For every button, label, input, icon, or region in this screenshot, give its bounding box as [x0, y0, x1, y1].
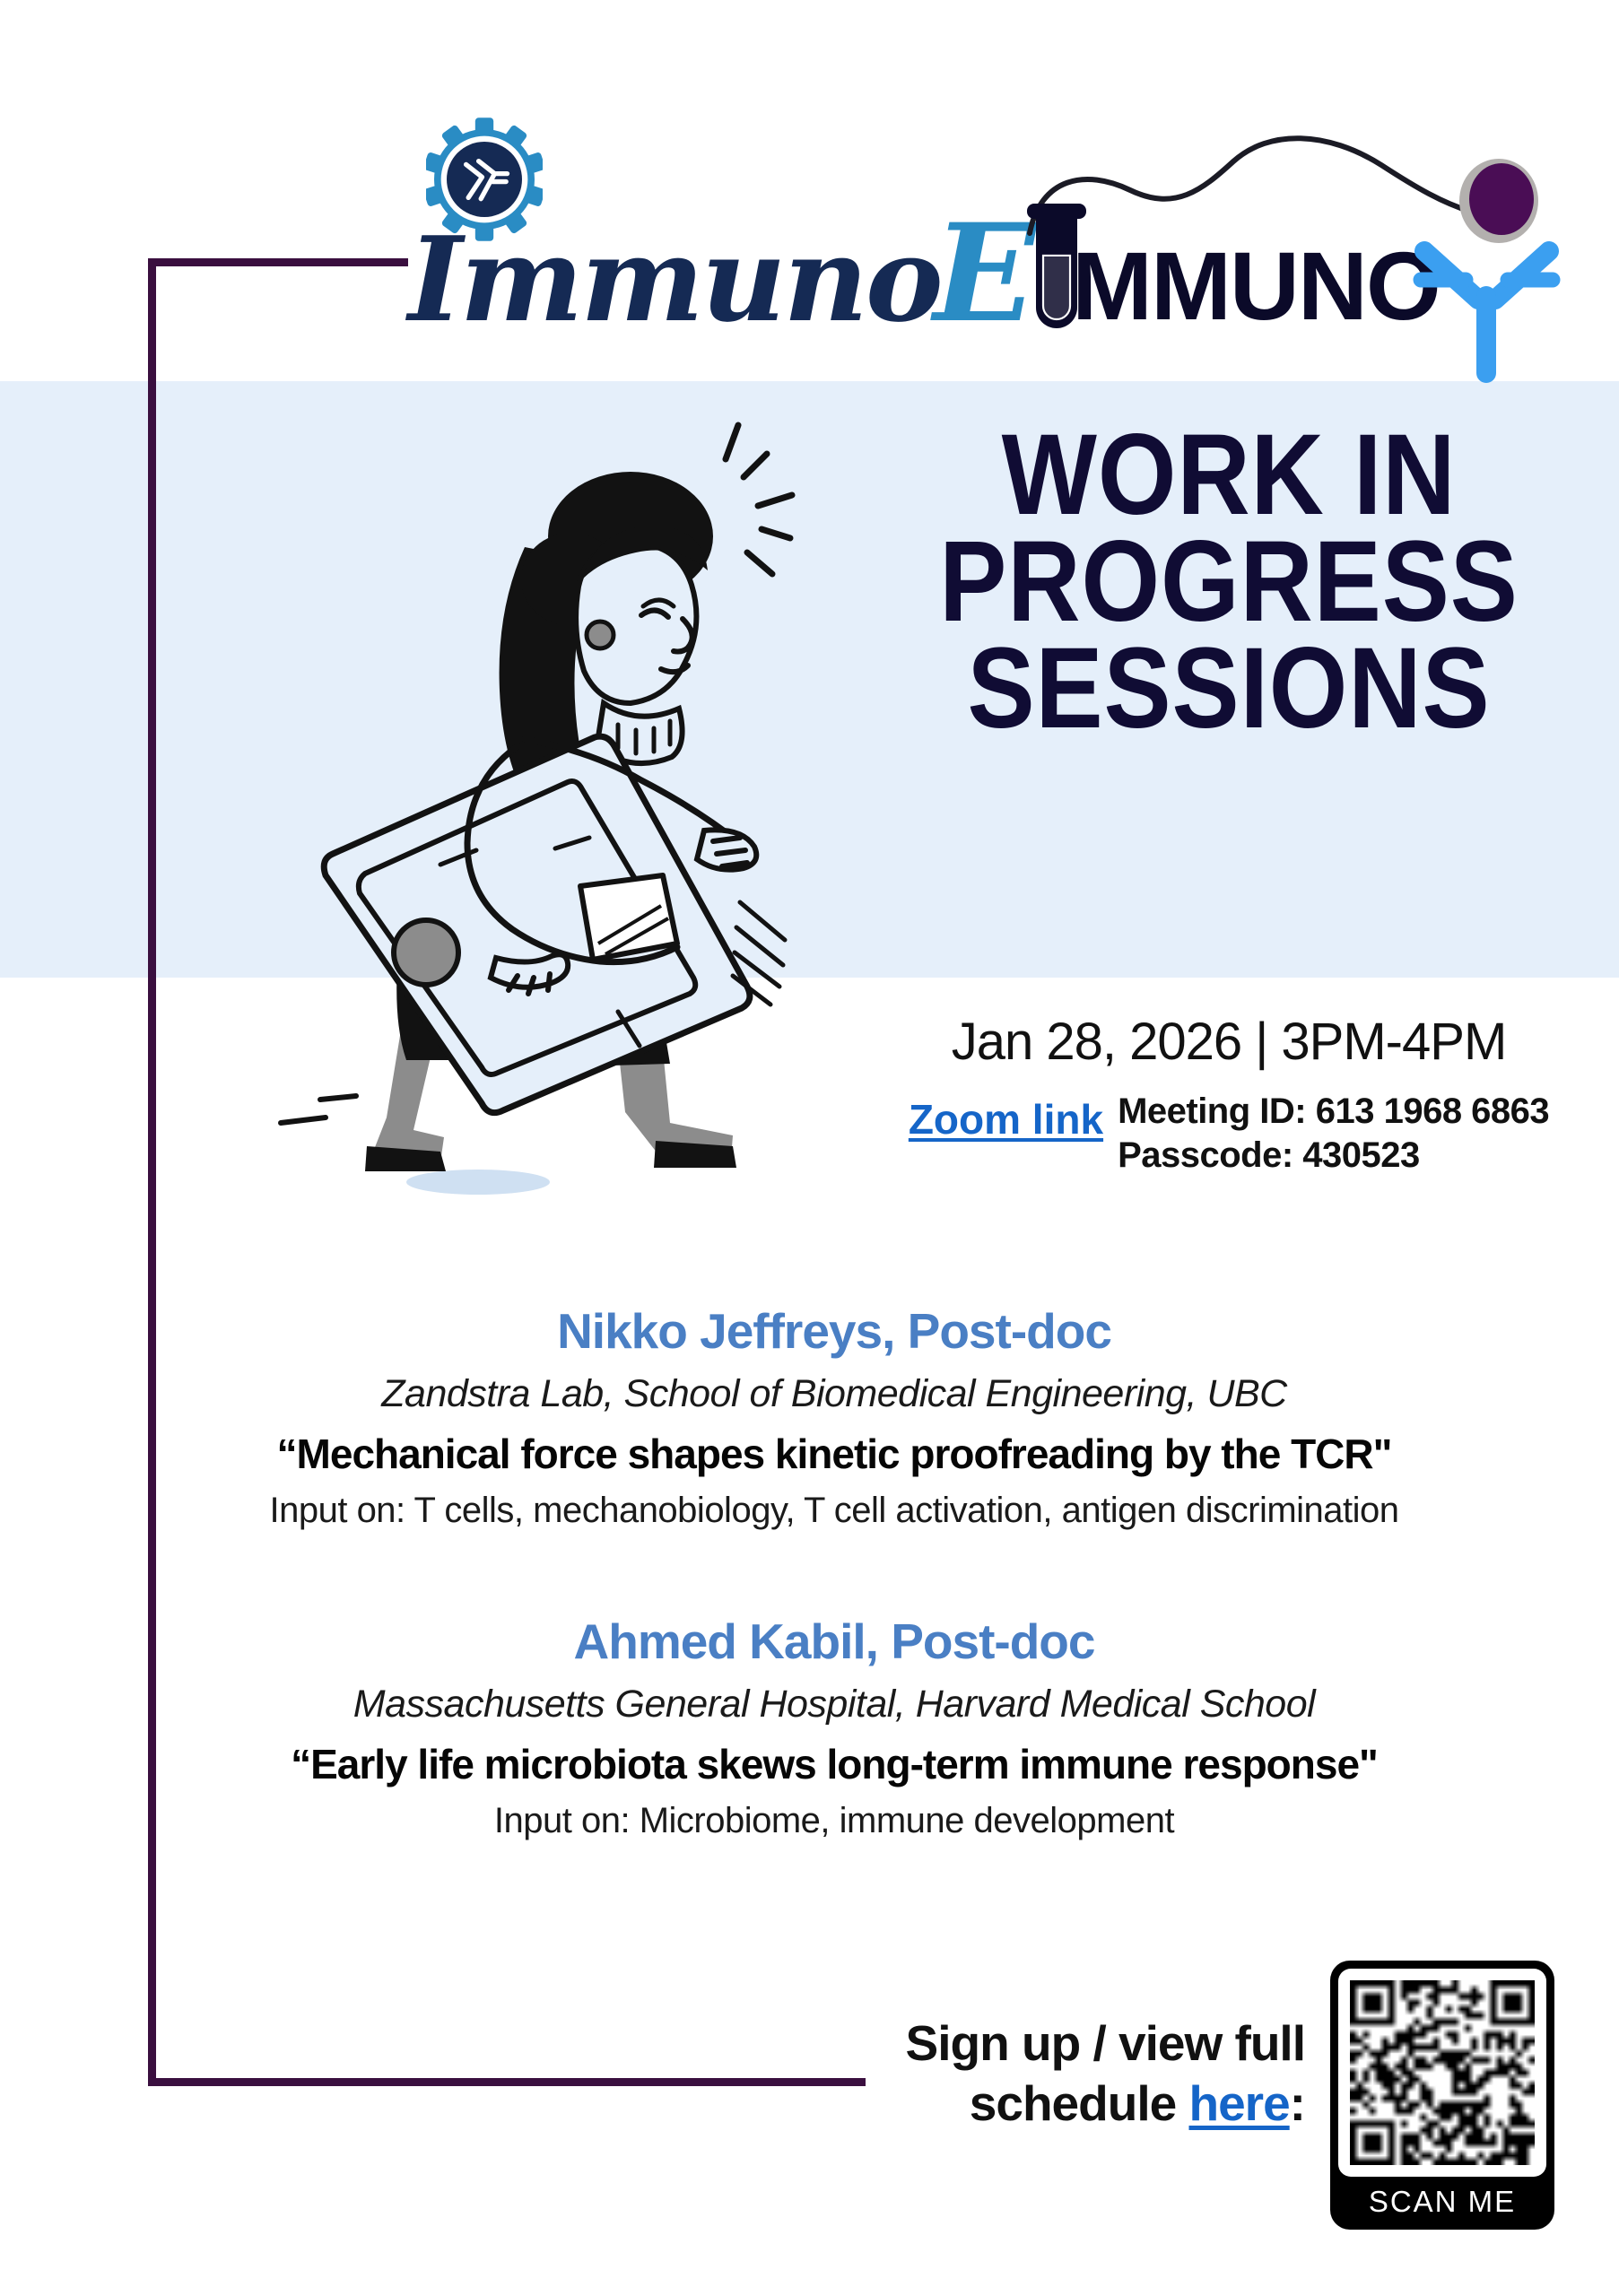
speaker-affiliation: Zandstra Lab, School of Biomedical Engin…	[152, 1370, 1516, 1420]
woman-carrying-box-illustration	[256, 395, 848, 1220]
immunoe-word-main: Immuno	[408, 211, 941, 348]
immunoe-word-accent: E	[934, 195, 1033, 352]
immunot-logo: MMUNO	[1023, 126, 1579, 368]
speaker-affiliation: Massachusetts General Hospital, Harvard …	[152, 1680, 1516, 1730]
speaker-name: Nikko Jeffreys, Post-doc	[152, 1300, 1516, 1362]
frame-top-rule	[148, 258, 408, 266]
speaker-input-topics: Input on: T cells, mechanobiology, T cel…	[152, 1487, 1516, 1534]
purple-cell-icon	[1458, 154, 1540, 244]
signup-line-1: Sign up / view full	[875, 2013, 1305, 2074]
speaker-entry: Ahmed Kabil, Post-doc Massachusetts Gene…	[152, 1611, 1516, 1844]
event-datetime: Jan 28, 2026 | 3PM-4PM	[857, 1012, 1601, 1072]
speaker-talk-title: “Early life microbiota skews long-term i…	[152, 1739, 1516, 1791]
antibody-y-icon	[1408, 240, 1565, 384]
zoom-info-row: Zoom link Meeting ID: 613 1968 6863 Pass…	[857, 1090, 1601, 1178]
speaker-name: Ahmed Kabil, Post-doc	[152, 1611, 1516, 1673]
poster-root: ImmunoE MMUNO	[0, 0, 1619, 2296]
speakers-list: Nikko Jeffreys, Post-doc Zandstra Lab, S…	[152, 1300, 1516, 1844]
meeting-passcode: Passcode: 430523	[1118, 1134, 1549, 1178]
qr-code-card[interactable]: SCAN ME	[1330, 1961, 1554, 2230]
signup-line-2-prefix: schedule	[970, 2075, 1189, 2131]
title-line-2: PROGRESS	[901, 528, 1556, 635]
title-line-1: WORK IN	[901, 422, 1556, 528]
immunoe-wordmark: ImmunoE	[408, 206, 1033, 341]
speaker-entry: Nikko Jeffreys, Post-doc Zandstra Lab, S…	[152, 1300, 1516, 1534]
immunot-wordmark: MMUNO	[1072, 238, 1440, 335]
qr-code-image	[1350, 1980, 1535, 2165]
frame-bottom-rule	[148, 2078, 866, 2086]
meeting-id: Meeting ID: 613 1968 6863	[1118, 1090, 1549, 1134]
speaker-input-topics: Input on: Microbiome, immune development	[152, 1797, 1516, 1844]
page-title: WORK IN PROGRESS SESSIONS	[857, 422, 1601, 742]
zoom-link[interactable]: Zoom link	[909, 1090, 1103, 1144]
signup-line-2: schedule here:	[875, 2074, 1305, 2134]
scan-me-label: SCAN ME	[1369, 2185, 1516, 2219]
meeting-credentials: Meeting ID: 613 1968 6863 Passcode: 4305…	[1118, 1090, 1549, 1178]
immunoe-logo: ImmunoE	[408, 117, 1000, 350]
signup-line-2-suffix: :	[1290, 2075, 1305, 2131]
schedule-here-link[interactable]: here	[1188, 2075, 1289, 2131]
qr-code-frame	[1338, 1969, 1546, 2177]
swoosh-line-icon	[1023, 126, 1489, 242]
signup-callout: Sign up / view full schedule here:	[875, 2013, 1305, 2134]
title-line-3: SESSIONS	[901, 635, 1556, 742]
speaker-talk-title: “Mechanical force shapes kinetic proofre…	[152, 1429, 1516, 1481]
